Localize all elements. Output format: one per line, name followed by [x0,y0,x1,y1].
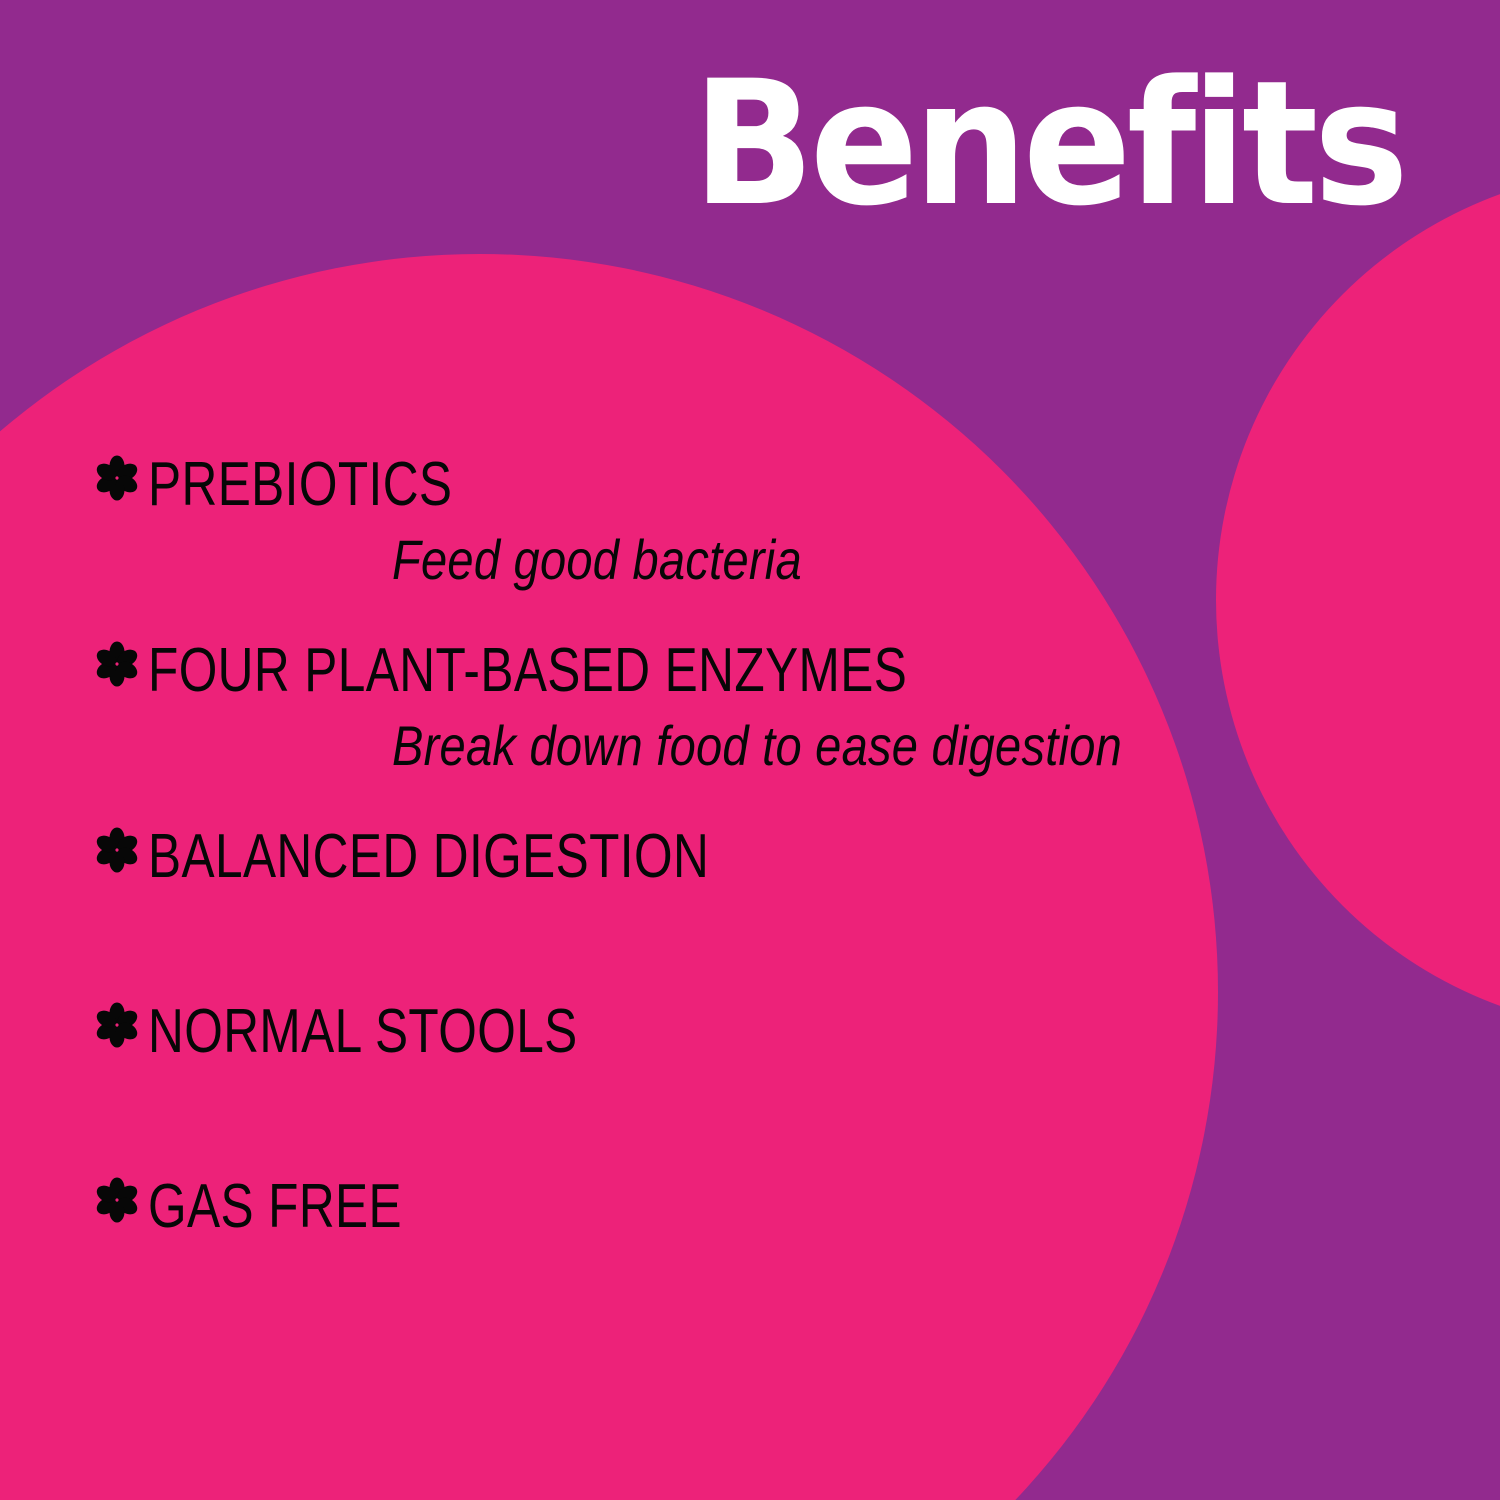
page-title: Benefits [692,58,1404,230]
benefit-main-line: FOUR PLANT-BASED ENZYMES [92,638,1422,703]
benefit-label: BALANCED DIGESTION [148,824,709,889]
benefits-list: PREBIOTICS Feed good bacteria [92,452,1422,1239]
row-spacer [92,1064,1422,1174]
benefit-label: PREBIOTICS [148,452,452,517]
list-item: NORMAL STOOLS [92,999,1422,1064]
page-title-container: Benefits [0,58,1404,230]
benefit-label: FOUR PLANT-BASED ENZYMES [148,638,907,703]
flower-asterisk-icon [92,453,148,503]
benefits-poster: Benefits [0,0,1500,1500]
row-spacer [92,590,1422,638]
benefit-subtext: Break down food to ease digestion [392,717,1122,776]
flower-asterisk-icon [92,639,148,689]
flower-asterisk-icon [92,1175,148,1225]
row-spacer [92,889,1422,999]
benefit-main-line: PREBIOTICS [92,452,1422,517]
benefit-subtext: Feed good bacteria [392,531,802,590]
flower-asterisk-icon [92,1000,148,1050]
list-item: FOUR PLANT-BASED ENZYMES Break down food… [92,638,1422,776]
list-item: BALANCED DIGESTION [92,824,1422,889]
row-spacer [92,776,1422,824]
benefit-main-line: BALANCED DIGESTION [92,824,1422,889]
list-item: PREBIOTICS Feed good bacteria [92,452,1422,590]
list-item: GAS FREE [92,1174,1422,1239]
benefit-label: GAS FREE [148,1174,402,1239]
benefit-main-line: NORMAL STOOLS [92,999,1422,1064]
flower-asterisk-icon [92,825,148,875]
benefit-label: NORMAL STOOLS [148,999,578,1064]
benefit-main-line: GAS FREE [92,1174,1422,1239]
